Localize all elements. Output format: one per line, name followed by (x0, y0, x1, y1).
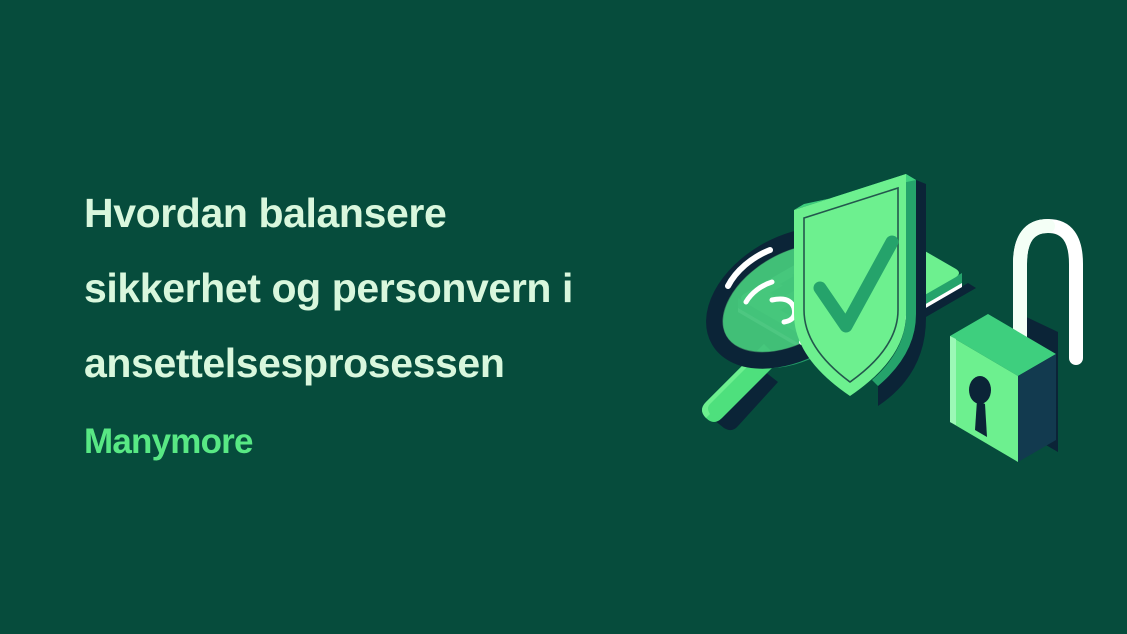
shield-check-group (794, 174, 926, 406)
illustration-svg (620, 118, 1100, 478)
security-privacy-isometric-illustration (620, 118, 1100, 478)
page-title: Hvordan balansere sikkerhet og personver… (84, 176, 624, 401)
padlock-body-edge-highlight (950, 336, 956, 425)
brand-logo: Manymore (84, 424, 624, 459)
promo-banner: Hvordan balansere sikkerhet og personver… (0, 0, 1127, 634)
padlock-keyhole-icon (969, 376, 991, 404)
text-block: Hvordan balansere sikkerhet og personver… (84, 176, 624, 459)
padlock-group (950, 226, 1076, 462)
